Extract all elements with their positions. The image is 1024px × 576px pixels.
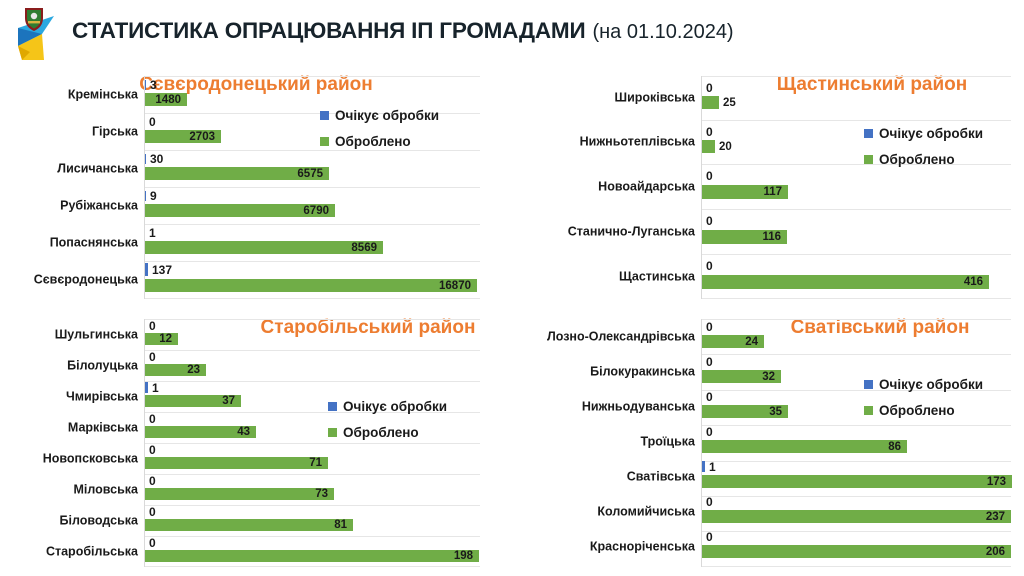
done-value: 8569 (351, 242, 377, 254)
legend-item-done: Оброблено (864, 152, 983, 167)
pending-value: 0 (706, 425, 713, 439)
done-bar-group: 2703 (145, 130, 221, 143)
pending-bar-group: 0 (145, 321, 156, 331)
done-bar: 43 (145, 426, 256, 438)
chart-legend: Очікує обробки Оброблено (864, 126, 983, 178)
done-bar-group: 71 (145, 457, 328, 469)
chart-row: Старобільська 0 198 (145, 536, 480, 567)
category-label: Біловодська (60, 514, 138, 527)
chart-row: Міловська 0 73 (145, 474, 480, 505)
pending-bar (702, 461, 705, 472)
pending-value: 30 (150, 152, 163, 166)
done-value: 2703 (189, 131, 215, 143)
done-bar: 16870 (145, 279, 477, 292)
done-bar-group: 24 (702, 335, 764, 348)
pending-value: 9 (150, 189, 157, 203)
pending-value: 1 (709, 460, 716, 474)
done-value: 206 (986, 546, 1005, 558)
page-title-date: (на 01.10.2024) (592, 21, 733, 44)
done-bar: 237 (702, 510, 1011, 523)
done-bar-group: 117 (702, 185, 788, 199)
chart-row: Біловодська 0 81 (145, 505, 480, 536)
legend-swatch-pending-icon (328, 402, 337, 411)
legend-swatch-done-icon (320, 137, 329, 146)
done-bar: 206 (702, 545, 1011, 558)
legend-swatch-pending-icon (864, 129, 873, 138)
legend-item-pending: Очікує обробки (864, 377, 983, 392)
chart-row: Рубіжанська 9 6790 (145, 187, 480, 224)
category-label: Рубіжанська (60, 199, 138, 212)
pending-value: 0 (149, 536, 156, 550)
legend-item-pending: Очікує обробки (328, 399, 447, 414)
legend-swatch-done-icon (864, 155, 873, 164)
chart-svativskyi: Сватівський район Лозно-Олександрівська … (512, 305, 1024, 576)
legend-label-done: Оброблено (335, 134, 411, 149)
category-label: Щастинська (619, 270, 695, 283)
category-label: Коломийчиська (597, 505, 695, 518)
done-value: 24 (745, 336, 758, 348)
category-label: Сватівська (627, 470, 695, 483)
pending-value: 0 (149, 505, 156, 519)
chart-row: Попаснянська 1 8569 (145, 224, 480, 261)
chart-sievierodonetskyi: Сєвєродонецький район Кремінська 3 1480 (0, 62, 512, 305)
pending-bar-group: 0 (702, 260, 713, 271)
category-label: Лисичанська (57, 162, 138, 175)
chart-row: Коломийчиська 0 237 (702, 494, 1011, 529)
done-bar-group: 12 (145, 333, 178, 345)
pending-bar-group: 1 (145, 228, 156, 238)
pending-value: 3 (150, 78, 157, 92)
category-label: Нижньотеплівська (580, 135, 695, 148)
done-value: 43 (237, 426, 250, 438)
legend-item-pending: Очікує обробки (864, 126, 983, 141)
pending-bar (145, 80, 146, 90)
chart-row: Шульгинська 0 12 (145, 319, 480, 350)
pending-value: 0 (706, 259, 713, 273)
pending-bar-group: 0 (145, 414, 156, 424)
pending-bar-group: 30 (145, 154, 163, 164)
pending-bar-group: 1 (145, 382, 159, 393)
pending-bar-group: 1 (702, 461, 716, 472)
pending-value: 0 (706, 495, 713, 509)
done-value: 32 (762, 371, 775, 383)
done-bar-group: 1480 (145, 93, 187, 106)
legend-label-pending: Очікує обробки (879, 126, 983, 141)
plot-area: Широківська 0 25 Нижньотеплівська 0 (701, 76, 1011, 299)
done-value: 416 (964, 276, 983, 288)
done-bar-group: 6575 (145, 167, 329, 180)
done-bar: 173 (702, 475, 1012, 488)
category-label: Кремінська (68, 88, 138, 101)
done-bar: 198 (145, 550, 479, 562)
pending-bar-group: 0 (145, 352, 156, 362)
done-bar: 81 (145, 519, 353, 531)
pending-bar-group: 9 (145, 191, 157, 201)
done-bar-group: 206 (702, 545, 1011, 558)
pending-value: 0 (149, 443, 156, 457)
pending-bar (145, 154, 146, 164)
done-value: 198 (454, 550, 473, 562)
chart-legend: Очікує обробки Оброблено (320, 108, 439, 160)
pending-value: 0 (706, 390, 713, 404)
pending-value: 0 (149, 412, 156, 426)
legend-item-done: Оброблено (328, 425, 447, 440)
done-bar: 6790 (145, 204, 335, 217)
pending-bar-group: 0 (145, 445, 156, 455)
done-bar-group: 173 (702, 475, 1012, 488)
category-label: Білокуракинська (590, 365, 695, 378)
legend-label-pending: Очікує обробки (879, 377, 983, 392)
page-title-main: СТАТИСТИКА ОПРАЦЮВАННЯ ІП ГРОМАДАМИ (72, 18, 585, 44)
chart-row: Красноріченська 0 206 (702, 529, 1011, 564)
chart-row: Станично-Луганська 0 116 (702, 209, 1011, 254)
pending-value: 0 (149, 474, 156, 488)
category-label: Новоайдарська (598, 180, 695, 193)
pending-bar-group: 0 (702, 126, 713, 137)
legend-swatch-pending-icon (320, 111, 329, 120)
pending-value: 0 (706, 125, 713, 139)
done-bar: 32 (702, 370, 781, 383)
pending-value: 137 (152, 263, 172, 277)
pending-value: 0 (706, 169, 713, 183)
legend-swatch-done-icon (328, 428, 337, 437)
category-label: Красноріченська (590, 540, 695, 553)
done-value: 173 (987, 476, 1006, 488)
pending-bar-group: 0 (145, 507, 156, 517)
coat-of-arms-ribbon-logo-icon (4, 2, 66, 60)
pending-bar-group: 0 (702, 215, 713, 226)
done-bar-group: 237 (702, 510, 1011, 523)
category-label: Сєвєродонецька (34, 273, 138, 286)
done-bar: 116 (702, 230, 787, 244)
legend-swatch-pending-icon (864, 380, 873, 389)
category-label: Широківська (615, 91, 695, 104)
done-bar-group: 32 (702, 370, 781, 383)
category-label: Марківська (68, 421, 138, 434)
category-label: Станично-Луганська (568, 225, 695, 238)
pending-bar-group: 0 (702, 170, 713, 181)
done-bar-group: 43 (145, 426, 256, 438)
gridline (702, 566, 1011, 567)
done-bar-group: 6790 (145, 204, 335, 217)
category-label: Новопсковська (43, 452, 138, 465)
category-label: Старобільська (46, 545, 138, 558)
chart-legend: Очікує обробки Оброблено (864, 377, 983, 429)
done-bar-group: 16870 (145, 279, 477, 292)
pending-value: 0 (706, 81, 713, 95)
chart-row: Білолуцька 0 23 (145, 350, 480, 381)
done-value: 73 (315, 488, 328, 500)
done-value: 23 (187, 364, 200, 376)
pending-bar (145, 191, 146, 201)
legend-label-pending: Очікує обробки (343, 399, 447, 414)
done-value: 71 (309, 457, 322, 469)
legend-swatch-done-icon (864, 406, 873, 415)
page-title: СТАТИСТИКА ОПРАЦЮВАННЯ ІП ГРОМАДАМИ (на … (72, 18, 734, 44)
category-label: Шульгинська (55, 328, 138, 341)
slide-header: СТАТИСТИКА ОПРАЦЮВАННЯ ІП ГРОМАДАМИ (на … (0, 0, 1024, 62)
pending-bar-group: 137 (145, 263, 172, 276)
done-bar-group: 86 (702, 440, 907, 453)
pending-value: 0 (706, 320, 713, 334)
pending-value: 1 (149, 226, 156, 240)
pending-bar-group: 0 (145, 117, 156, 127)
category-label: Лозно-Олександрівська (547, 330, 695, 343)
done-value: 37 (222, 395, 235, 407)
done-bar: 23 (145, 364, 206, 376)
plot-area: Лозно-Олександрівська 0 24 Білокуракинсь… (701, 319, 1011, 567)
done-bar-group: 198 (145, 550, 479, 562)
done-value: 81 (334, 519, 347, 531)
pending-value: 0 (706, 214, 713, 228)
done-bar: 25 (702, 96, 719, 109)
pending-bar-group: 0 (702, 532, 713, 542)
pending-value: 1 (152, 381, 159, 395)
chart-row: Лозно-Олександрівська 0 24 (702, 319, 1011, 354)
pending-bar-group: 0 (702, 427, 713, 437)
done-value: 35 (769, 406, 782, 418)
pending-bar-group: 0 (702, 392, 713, 402)
chart-row: Широківська 0 25 (702, 76, 1011, 120)
done-value: 25 (723, 97, 736, 109)
done-bar: 71 (145, 457, 328, 469)
pending-value: 0 (706, 355, 713, 369)
done-value: 117 (763, 186, 782, 198)
done-value: 116 (762, 231, 781, 243)
done-bar: 1480 (145, 93, 187, 106)
done-bar: 8569 (145, 241, 383, 254)
pending-value: 0 (149, 115, 156, 129)
done-bar: 2703 (145, 130, 221, 143)
done-value: 6575 (297, 168, 323, 180)
done-bar: 86 (702, 440, 907, 453)
done-value: 86 (888, 441, 901, 453)
done-bar-group: 416 (702, 275, 989, 289)
done-bar-group: 35 (702, 405, 788, 418)
pending-bar-group: 0 (702, 82, 713, 93)
legend-item-done: Оброблено (320, 134, 439, 149)
pending-bar-group: 0 (145, 538, 156, 548)
done-bar: 35 (702, 405, 788, 418)
pending-value: 0 (149, 319, 156, 333)
done-bar: 20 (702, 140, 715, 153)
chart-shchastynskyi: Щастинський район Широківська 0 25 (512, 62, 1024, 305)
pending-bar-group: 0 (145, 476, 156, 486)
category-label: Нижньодуванська (582, 400, 695, 413)
gridline (145, 298, 480, 299)
done-value: 1480 (155, 94, 181, 106)
category-label: Чмирівська (66, 390, 138, 403)
legend-label-done: Оброблено (879, 403, 955, 418)
pending-bar-group: 0 (702, 497, 713, 507)
done-bar-group: 8569 (145, 241, 383, 254)
legend-item-done: Оброблено (864, 403, 983, 418)
done-bar-group: 73 (145, 488, 334, 500)
category-label: Міловська (73, 483, 138, 496)
done-bar: 24 (702, 335, 764, 348)
done-value: 20 (719, 141, 732, 153)
done-bar: 117 (702, 185, 788, 199)
done-bar-group: 116 (702, 230, 787, 244)
done-value: 6790 (303, 205, 329, 217)
chart-row: Сватівська 1 173 (702, 459, 1011, 494)
legend-label-done: Оброблено (343, 425, 419, 440)
done-bar: 73 (145, 488, 334, 500)
pending-bar (145, 263, 148, 276)
chart-starobilskyi: Старобільський район Шульгинська 0 12 (0, 305, 512, 576)
done-value: 237 (986, 511, 1005, 523)
pending-bar-group: 0 (702, 357, 713, 367)
category-label: Гірська (92, 125, 138, 138)
legend-label-done: Оброблено (879, 152, 955, 167)
chart-row: Сєвєродонецька 137 16870 (145, 261, 480, 298)
done-bar-group: 20 (702, 140, 715, 153)
chart-legend: Очікує обробки Оброблено (328, 399, 447, 451)
chart-row: Щастинська 0 416 (702, 254, 1011, 299)
done-bar-group: 81 (145, 519, 353, 531)
pending-bar-group: 3 (145, 80, 157, 90)
category-label: Попаснянська (50, 236, 138, 249)
done-bar-group: 25 (702, 96, 719, 109)
category-label: Троїцька (640, 435, 695, 448)
done-bar-group: 37 (145, 395, 241, 407)
done-bar: 416 (702, 275, 989, 289)
done-bar-group: 23 (145, 364, 206, 376)
slide-root: СТАТИСТИКА ОПРАЦЮВАННЯ ІП ГРОМАДАМИ (на … (0, 0, 1024, 576)
legend-item-pending: Очікує обробки (320, 108, 439, 123)
done-bar: 6575 (145, 167, 329, 180)
chart-row: Троїцька 0 86 (702, 424, 1011, 459)
pending-bar (145, 382, 148, 393)
category-label: Білолуцька (67, 359, 138, 372)
legend-label-pending: Очікує обробки (335, 108, 439, 123)
done-bar: 12 (145, 333, 178, 345)
done-bar: 37 (145, 395, 241, 407)
pending-value: 0 (706, 530, 713, 544)
done-value: 16870 (439, 280, 471, 292)
pending-value: 0 (149, 350, 156, 364)
pending-bar-group: 0 (702, 322, 713, 332)
done-value: 12 (159, 333, 172, 345)
